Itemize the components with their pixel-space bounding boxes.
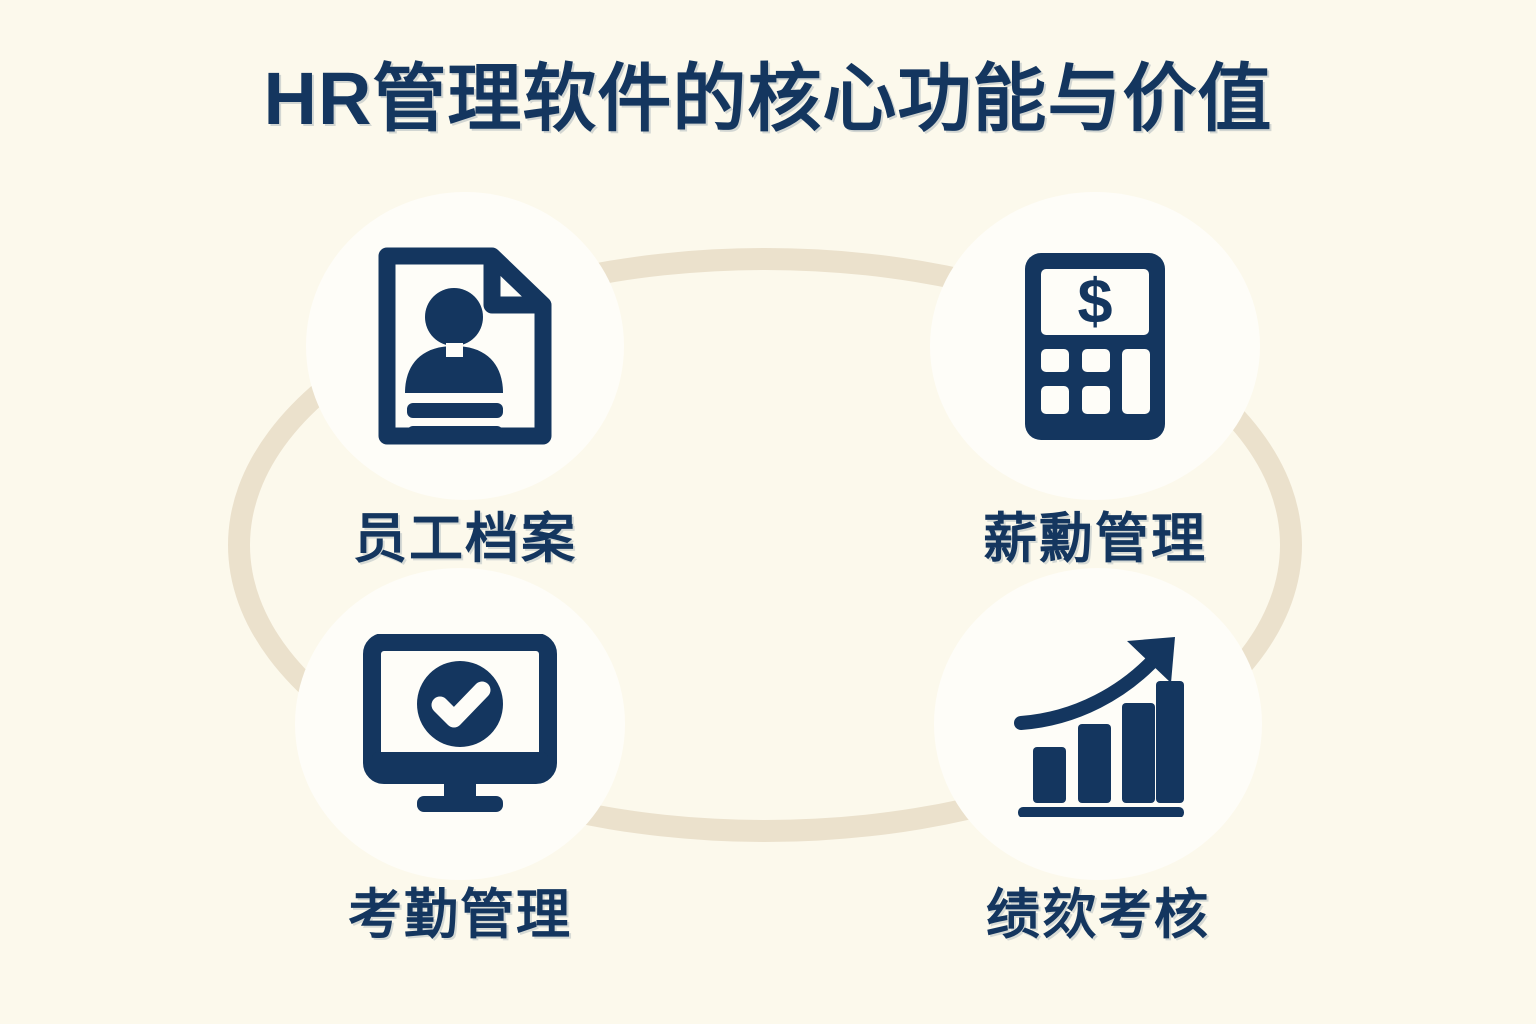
icon-bubble [306,192,624,500]
performance-growth-chart-icon [1005,631,1191,817]
feature-node-attendance[interactable]: 考勤管理 [290,568,630,946]
payroll-calculator-icon: $ [1016,244,1174,449]
icon-bubble [934,568,1262,880]
employee-file-icon [374,243,556,449]
feature-label: 考勤管理 [290,884,630,946]
feature-label: 薪勳管理 [925,508,1265,570]
icon-bubble [295,568,625,880]
page-title: HR管理软件的核心功能与价值 [0,58,1536,139]
feature-node-employee-file[interactable]: 员工档案 [295,192,635,570]
infographic-canvas: HR管理软件的核心功能与价值 员工档案 [0,0,1536,1024]
svg-text:$: $ [1077,267,1112,337]
icon-bubble: $ [930,192,1260,500]
attendance-monitor-check-icon [362,634,558,814]
feature-node-performance[interactable]: 绩欬考核 [928,568,1268,946]
feature-label: 绩欬考核 [928,884,1268,946]
feature-node-payroll[interactable]: $ 薪勳管理 [925,192,1265,570]
feature-label: 员工档案 [295,508,635,570]
